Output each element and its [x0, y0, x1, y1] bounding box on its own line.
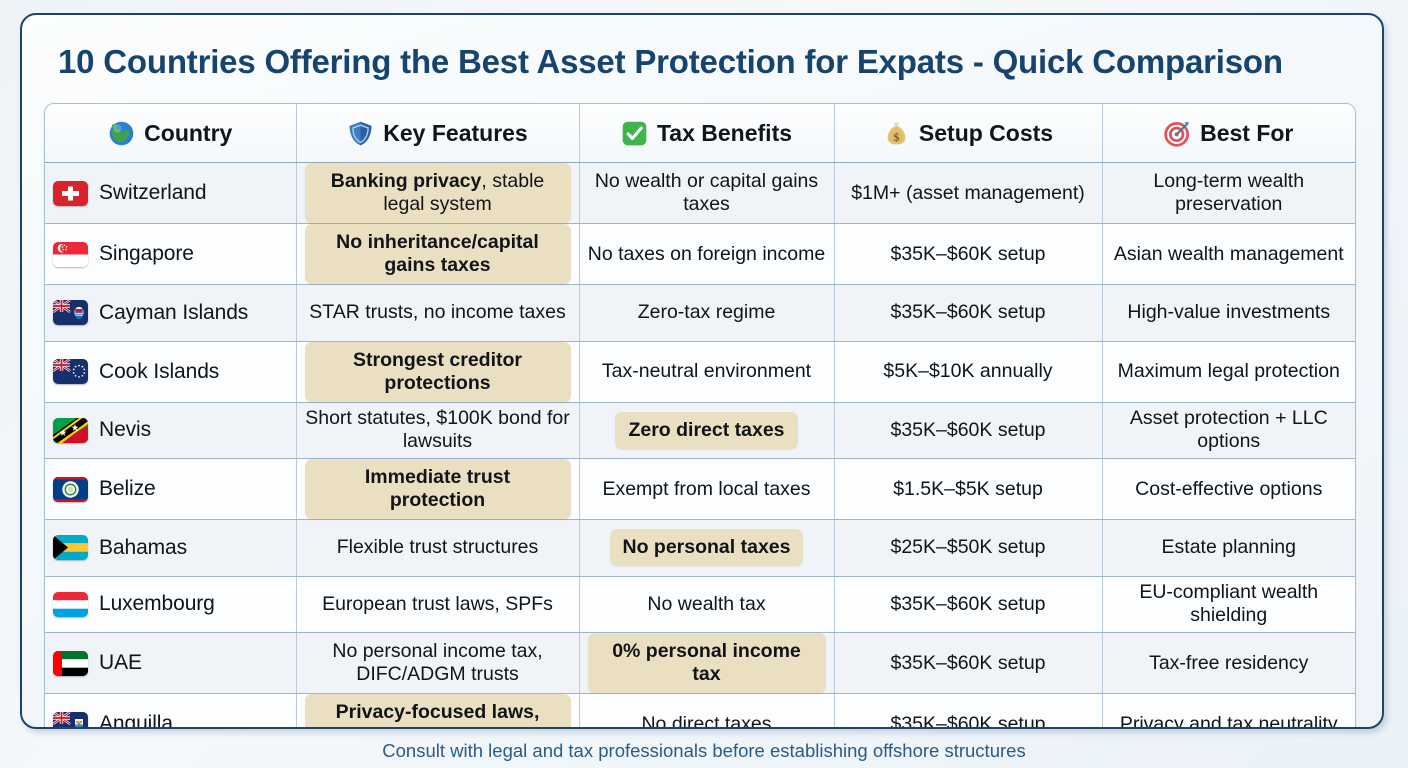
cell-tax-benefits: Exempt from local taxes [579, 459, 834, 520]
cell-tax-benefits: 0% personal income tax [579, 633, 834, 694]
tax-benefits-text: No direct taxes [641, 713, 771, 730]
table-row: NevisShort statutes, $100K bond for laws… [45, 402, 1355, 459]
country-name: Anguilla [99, 712, 173, 729]
cell-best-for: Asset protection + LLC options [1102, 402, 1355, 459]
cell-key-features: Short statutes, $100K bond for lawsuits [296, 402, 579, 459]
tax-benefits-text: No personal taxes [610, 529, 804, 566]
cell-best-for: Cost-effective options [1102, 459, 1355, 520]
table-header: Country Key Featu [45, 104, 1355, 163]
money-bag-icon: $ [883, 120, 910, 147]
cell-country: Cayman Islands [45, 285, 296, 342]
country-name: Switzerland [99, 181, 206, 205]
column-header-best-for: Best For [1102, 104, 1355, 163]
country-name: Cook Islands [99, 360, 219, 384]
key-features-text: STAR trusts, no income taxes [309, 301, 565, 324]
country-name: Singapore [99, 242, 194, 266]
cell-best-for: Asian wealth management [1102, 224, 1355, 285]
tax-benefits-text: Exempt from local taxes [602, 478, 810, 501]
cell-key-features: Strongest creditor protections [296, 341, 579, 402]
cell-best-for: Estate planning [1102, 520, 1355, 577]
flag-anguilla-icon [53, 712, 88, 730]
cell-key-features: European trust laws, SPFs [296, 576, 579, 633]
flag-uae-icon [53, 651, 88, 676]
cell-setup-costs: $5K–$10K annually [834, 341, 1102, 402]
comparison-table-container: Country Key Featu [44, 103, 1356, 729]
cell-country: Switzerland [45, 163, 296, 224]
tax-benefits-text: Zero-tax regime [638, 301, 776, 324]
cell-key-features: No personal income tax, DIFC/ADGM trusts [296, 633, 579, 694]
cell-best-for: High-value investments [1102, 285, 1355, 342]
column-header-best-for-label: Best For [1200, 120, 1293, 147]
comparison-table: Country Key Featu [45, 104, 1355, 729]
cell-best-for: Tax-free residency [1102, 633, 1355, 694]
cell-country: Nevis [45, 402, 296, 459]
table-row: SwitzerlandBanking privacy, stable legal… [45, 163, 1355, 224]
cell-country: Belize [45, 459, 296, 520]
best-for-text: EU-compliant wealth shielding [1111, 581, 1348, 627]
cell-setup-costs: $1.5K–$5K setup [834, 459, 1102, 520]
best-for-text: Cost-effective options [1135, 478, 1322, 501]
flag-cayman-islands-icon [53, 300, 88, 325]
svg-text:$: $ [893, 130, 899, 144]
tax-benefits-text: No wealth or capital gains taxes [588, 170, 826, 216]
column-header-country-label: Country [144, 120, 232, 147]
column-header-setup-costs: $ Setup Costs [834, 104, 1102, 163]
cell-setup-costs: $35K–$60K setup [834, 694, 1102, 730]
cell-country: Anguilla [45, 694, 296, 730]
cell-setup-costs: $35K–$60K setup [834, 633, 1102, 694]
key-features-text: Privacy-focused laws, LLC protections [305, 694, 571, 729]
cell-tax-benefits: Zero direct taxes [579, 402, 834, 459]
tax-benefits-text: 0% personal income tax [588, 633, 826, 693]
cell-best-for: Long-term wealth preservation [1102, 163, 1355, 224]
table-row: LuxembourgEuropean trust laws, SPFsNo we… [45, 576, 1355, 633]
country-name: Cayman Islands [99, 301, 248, 325]
cell-key-features: Immediate trust protection [296, 459, 579, 520]
setup-costs-text: $5K–$10K annually [883, 360, 1052, 383]
table-row: UAENo personal income tax, DIFC/ADGM tru… [45, 633, 1355, 694]
flag-belize-icon [53, 477, 88, 502]
check-mark-icon [621, 120, 648, 147]
tax-benefits-text: No taxes on foreign income [588, 243, 825, 266]
cell-key-features: Privacy-focused laws, LLC protections [296, 694, 579, 730]
cell-key-features: No inheritance/capital gains taxes [296, 224, 579, 285]
tax-benefits-text: No wealth tax [647, 593, 765, 616]
best-for-text: Asian wealth management [1114, 243, 1344, 266]
cell-best-for: Maximum legal protection [1102, 341, 1355, 402]
setup-costs-text: $35K–$60K setup [890, 419, 1045, 442]
key-features-text: Flexible trust structures [337, 536, 539, 559]
best-for-text: Estate planning [1162, 536, 1296, 559]
flag-switzerland-icon [53, 181, 88, 206]
setup-costs-text: $1M+ (asset management) [851, 182, 1085, 205]
best-for-text: Asset protection + LLC options [1111, 407, 1348, 453]
table-body: SwitzerlandBanking privacy, stable legal… [45, 163, 1355, 730]
key-features-text: No personal income tax, DIFC/ADGM trusts [305, 640, 571, 686]
flag-cook-islands-icon [53, 359, 88, 384]
table-row: Cayman IslandsSTAR trusts, no income tax… [45, 285, 1355, 342]
cell-tax-benefits: No wealth tax [579, 576, 834, 633]
best-for-text: High-value investments [1127, 301, 1330, 324]
setup-costs-text: $35K–$60K setup [890, 593, 1045, 616]
column-header-tax-benefits-label: Tax Benefits [657, 120, 792, 147]
country-name: Bahamas [99, 536, 187, 560]
setup-costs-text: $35K–$60K setup [890, 243, 1045, 266]
globe-icon [108, 120, 135, 147]
cell-country: Singapore [45, 224, 296, 285]
key-features-text: Banking privacy, stable legal system [305, 163, 571, 223]
best-for-text: Long-term wealth preservation [1111, 170, 1348, 216]
column-header-country: Country [45, 104, 296, 163]
key-features-text: European trust laws, SPFs [322, 593, 553, 616]
table-row: SingaporeNo inheritance/capital gains ta… [45, 224, 1355, 285]
cell-setup-costs: $35K–$60K setup [834, 576, 1102, 633]
cell-setup-costs: $35K–$60K setup [834, 402, 1102, 459]
table-row: BelizeImmediate trust protectionExempt f… [45, 459, 1355, 520]
column-header-key-features: Key Features [296, 104, 579, 163]
table-row: AnguillaPrivacy-focused laws, LLC protec… [45, 694, 1355, 730]
cell-setup-costs: $35K–$60K setup [834, 285, 1102, 342]
flag-singapore-icon [53, 242, 88, 267]
cell-tax-benefits: No taxes on foreign income [579, 224, 834, 285]
tax-benefits-text: Tax-neutral environment [602, 360, 811, 383]
setup-costs-text: $35K–$60K setup [890, 301, 1045, 324]
column-header-setup-costs-label: Setup Costs [919, 120, 1053, 147]
setup-costs-text: $25K–$50K setup [890, 536, 1045, 559]
header-row: Country Key Featu [45, 104, 1355, 163]
key-features-text: No inheritance/capital gains taxes [305, 224, 571, 284]
cell-tax-benefits: No direct taxes [579, 694, 834, 730]
cell-setup-costs: $1M+ (asset management) [834, 163, 1102, 224]
footer-disclaimer: Consult with legal and tax professionals… [0, 740, 1408, 762]
comparison-card: 10 Countries Offering the Best Asset Pro… [20, 13, 1384, 729]
cell-country: Cook Islands [45, 341, 296, 402]
key-features-text: Immediate trust protection [305, 459, 571, 519]
flag-bahamas-icon [53, 535, 88, 560]
setup-costs-text: $35K–$60K setup [890, 652, 1045, 675]
flag-nevis-icon [53, 418, 88, 443]
cell-setup-costs: $25K–$50K setup [834, 520, 1102, 577]
country-name: Belize [99, 477, 156, 501]
cell-country: Bahamas [45, 520, 296, 577]
cell-best-for: Privacy and tax neutrality [1102, 694, 1355, 730]
cell-best-for: EU-compliant wealth shielding [1102, 576, 1355, 633]
key-features-text: Strongest creditor protections [305, 342, 571, 402]
flag-luxembourg-icon [53, 592, 88, 617]
best-for-text: Tax-free residency [1149, 652, 1308, 675]
cell-tax-benefits: Zero-tax regime [579, 285, 834, 342]
cell-setup-costs: $35K–$60K setup [834, 224, 1102, 285]
tax-benefits-text: Zero direct taxes [615, 412, 797, 449]
table-row: Cook IslandsStrongest creditor protectio… [45, 341, 1355, 402]
setup-costs-text: $35K–$60K setup [890, 713, 1045, 730]
cell-tax-benefits: Tax-neutral environment [579, 341, 834, 402]
country-name: UAE [99, 651, 142, 675]
country-name: Luxembourg [99, 592, 215, 616]
cell-tax-benefits: No personal taxes [579, 520, 834, 577]
cell-country: UAE [45, 633, 296, 694]
key-features-text: Short statutes, $100K bond for lawsuits [305, 407, 571, 453]
cell-tax-benefits: No wealth or capital gains taxes [579, 163, 834, 224]
cell-key-features: Banking privacy, stable legal system [296, 163, 579, 224]
column-header-key-features-label: Key Features [383, 120, 527, 147]
cell-country: Luxembourg [45, 576, 296, 633]
cell-key-features: STAR trusts, no income taxes [296, 285, 579, 342]
best-for-text: Privacy and tax neutrality [1120, 713, 1338, 730]
page-title: 10 Countries Offering the Best Asset Pro… [22, 15, 1382, 81]
shield-icon [347, 120, 374, 147]
best-for-text: Maximum legal protection [1118, 360, 1340, 383]
column-header-tax-benefits: Tax Benefits [579, 104, 834, 163]
cell-key-features: Flexible trust structures [296, 520, 579, 577]
target-icon [1164, 120, 1191, 147]
setup-costs-text: $1.5K–$5K setup [893, 478, 1043, 501]
country-name: Nevis [99, 418, 151, 442]
table-row: BahamasFlexible trust structuresNo perso… [45, 520, 1355, 577]
